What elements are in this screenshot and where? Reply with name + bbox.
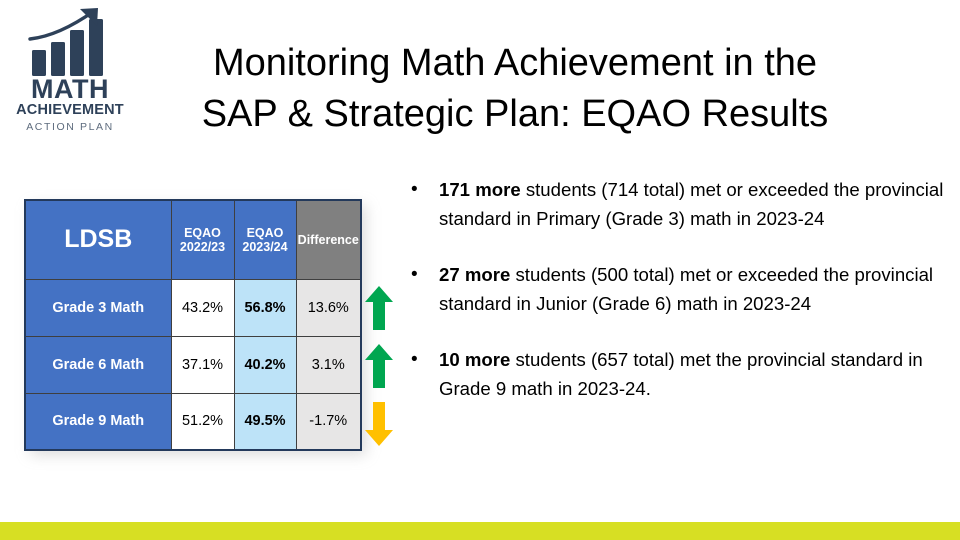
table-cell-grade: Grade 9 Math <box>25 393 171 450</box>
trend-arrow-column <box>364 285 398 455</box>
table-cell-curr-score: 56.8% <box>234 279 296 336</box>
key-findings-list: • 171 more students (714 total) met or e… <box>403 176 951 431</box>
logo-line-action-plan: ACTION PLAN <box>10 119 130 135</box>
eqao-results-table: LDSB EQAO 2022/23 EQAO 2023/24 Differenc… <box>24 199 362 451</box>
slide-accent-bar <box>0 522 960 540</box>
table-cell-curr-score: 40.2% <box>234 336 296 393</box>
logo-wordmark: MATH ACHIEVEMENT ACTION PLAN <box>10 76 130 135</box>
table-header-difference: Difference <box>296 200 361 279</box>
list-item: • 27 more students (500 total) met or ex… <box>403 261 951 318</box>
bullet-marker: • <box>411 261 418 290</box>
bar-chart-growth-arrow-icon <box>26 6 118 78</box>
list-item-emphasis: 10 more <box>439 349 510 370</box>
table-header-eqao-curr: EQAO 2023/24 <box>234 200 296 279</box>
table-header-organization: LDSB <box>25 200 171 279</box>
table-cell-difference: 3.1% <box>296 336 361 393</box>
table-header-eqao-curr-line2: 2023/24 <box>242 240 287 254</box>
list-item: • 10 more students (657 total) met the p… <box>403 346 951 403</box>
math-achievement-action-plan-logo: MATH ACHIEVEMENT ACTION PLAN <box>10 6 130 134</box>
table-header-eqao-prev-line1: EQAO <box>184 226 221 240</box>
table-cell-grade: Grade 6 Math <box>25 336 171 393</box>
slide-title-line-2: SAP & Strategic Plan: EQAO Results <box>150 89 880 140</box>
list-item-text: students (657 total) met the provincial … <box>439 349 923 399</box>
bullet-marker: • <box>411 346 418 375</box>
table-header-eqao-prev: EQAO 2022/23 <box>171 200 234 279</box>
table-cell-curr-score: 49.5% <box>234 393 296 450</box>
eqao-results-table-wrapper: LDSB EQAO 2022/23 EQAO 2023/24 Differenc… <box>24 199 360 450</box>
table-header-eqao-prev-line2: 2022/23 <box>180 240 225 254</box>
table-header-eqao-curr-line1: EQAO <box>247 226 284 240</box>
table-cell-grade: Grade 3 Math <box>25 279 171 336</box>
list-item: • 171 more students (714 total) met or e… <box>403 176 951 233</box>
table-cell-prev-score: 51.2% <box>171 393 234 450</box>
bullet-marker: • <box>411 176 418 205</box>
table-row: Grade 9 Math 51.2% 49.5% -1.7% <box>25 393 361 450</box>
table-cell-difference: -1.7% <box>296 393 361 450</box>
arrow-up-icon <box>364 343 394 389</box>
table-row: Grade 6 Math 37.1% 40.2% 3.1% <box>25 336 361 393</box>
table-cell-difference: 13.6% <box>296 279 361 336</box>
arrow-down-icon <box>364 401 394 447</box>
arrow-up-icon <box>364 285 394 331</box>
table-header-row: LDSB EQAO 2022/23 EQAO 2023/24 Differenc… <box>25 200 361 279</box>
table-row: Grade 3 Math 43.2% 56.8% 13.6% <box>25 279 361 336</box>
table-cell-prev-score: 37.1% <box>171 336 234 393</box>
table-cell-prev-score: 43.2% <box>171 279 234 336</box>
list-item-emphasis: 27 more <box>439 264 510 285</box>
slide-title: Monitoring Math Achievement in the SAP &… <box>150 38 880 140</box>
slide-title-line-1: Monitoring Math Achievement in the <box>150 38 880 89</box>
logo-line-math: MATH <box>10 76 130 102</box>
list-item-text: students (500 total) met or exceeded the… <box>439 264 933 314</box>
logo-line-achievement: ACHIEVEMENT <box>10 102 130 119</box>
list-item-emphasis: 171 more <box>439 179 521 200</box>
